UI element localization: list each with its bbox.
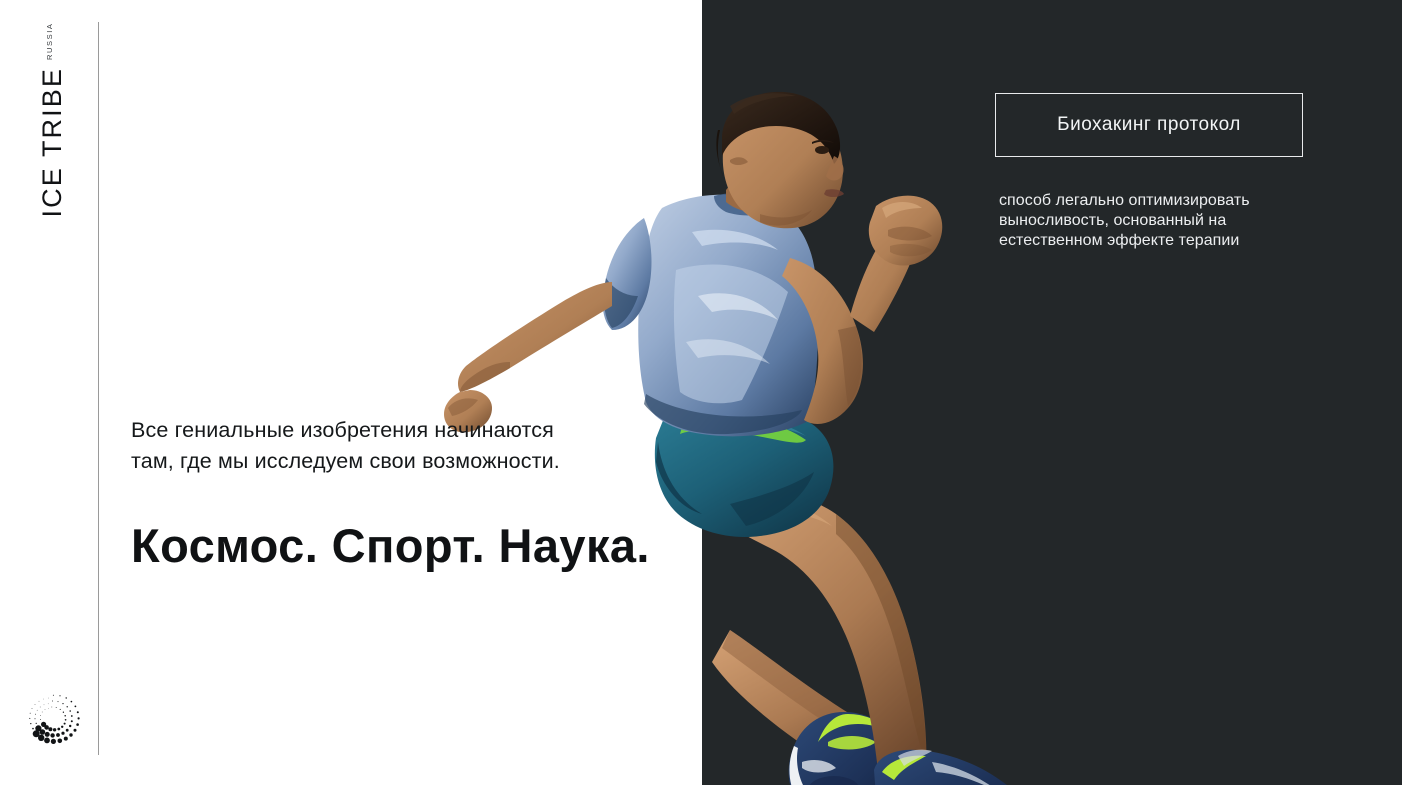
lede-paragraph: Все гениальные изобретения начинаются та… (131, 415, 671, 477)
slide-root: ICE TRIBE RUSSIA (0, 0, 1402, 785)
logo-wordmark-text: ICE TRIBE (39, 67, 66, 217)
logo-region-text: RUSSIA (46, 23, 54, 61)
badge-label: Биохакинг протокол (1057, 114, 1241, 136)
logo[interactable]: ICE TRIBE RUSSIA (6, 20, 66, 220)
spiral-dots-icon (19, 688, 87, 756)
panel-description: способ легально оптимизировать выносливо… (999, 191, 1335, 251)
copy-block: Все гениальные изобретения начинаются та… (131, 415, 671, 572)
page-title: Космос. Спорт. Наука. (131, 521, 671, 572)
brand-rail: ICE TRIBE RUSSIA (0, 0, 100, 785)
vertical-divider (98, 22, 99, 755)
rear-arm (444, 282, 612, 432)
biohacking-protocol-badge[interactable]: Биохакинг протокол (995, 93, 1303, 157)
panel-content: Биохакинг протокол способ легально оптим… (995, 93, 1345, 251)
